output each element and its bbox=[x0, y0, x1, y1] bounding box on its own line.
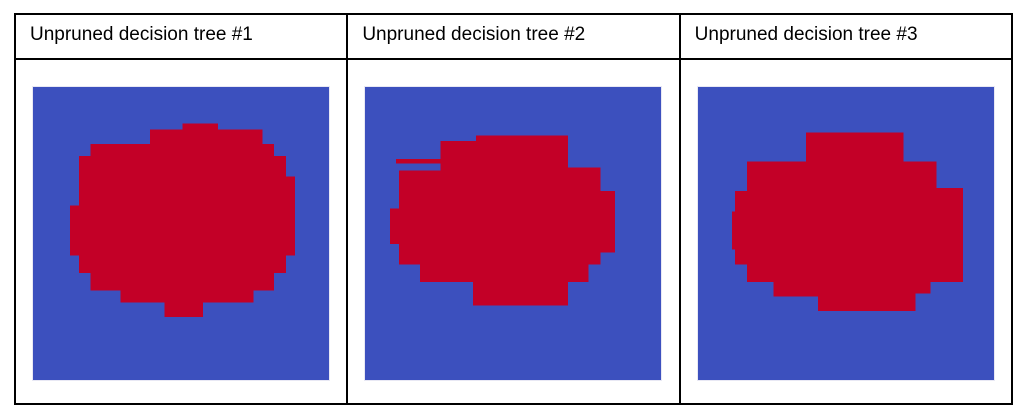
decision-tree-comparison-table: Unpruned decision tree #1 Unpruned decis… bbox=[14, 13, 1013, 405]
decision-boundary-tree-3 bbox=[697, 86, 995, 381]
column-header-tree-1: Unpruned decision tree #1 bbox=[15, 14, 347, 59]
decision-boundary-svg-tree-3 bbox=[698, 87, 994, 380]
plot-row bbox=[15, 59, 1012, 404]
decision-boundary-svg-tree-2 bbox=[365, 87, 661, 380]
decision-boundary-tree-1 bbox=[32, 86, 330, 381]
decision-boundary-tree-2 bbox=[364, 86, 662, 381]
header-row: Unpruned decision tree #1 Unpruned decis… bbox=[15, 14, 1012, 59]
column-header-tree-2: Unpruned decision tree #2 bbox=[347, 14, 679, 59]
plot-cell-tree-2 bbox=[347, 59, 679, 404]
plot-cell-tree-3 bbox=[680, 59, 1012, 404]
decision-boundary-svg-tree-1 bbox=[33, 87, 329, 380]
thin-red-sliver bbox=[397, 159, 443, 164]
column-header-tree-3: Unpruned decision tree #3 bbox=[680, 14, 1012, 59]
region-class-red bbox=[70, 124, 295, 317]
plot-cell-tree-1 bbox=[15, 59, 347, 404]
